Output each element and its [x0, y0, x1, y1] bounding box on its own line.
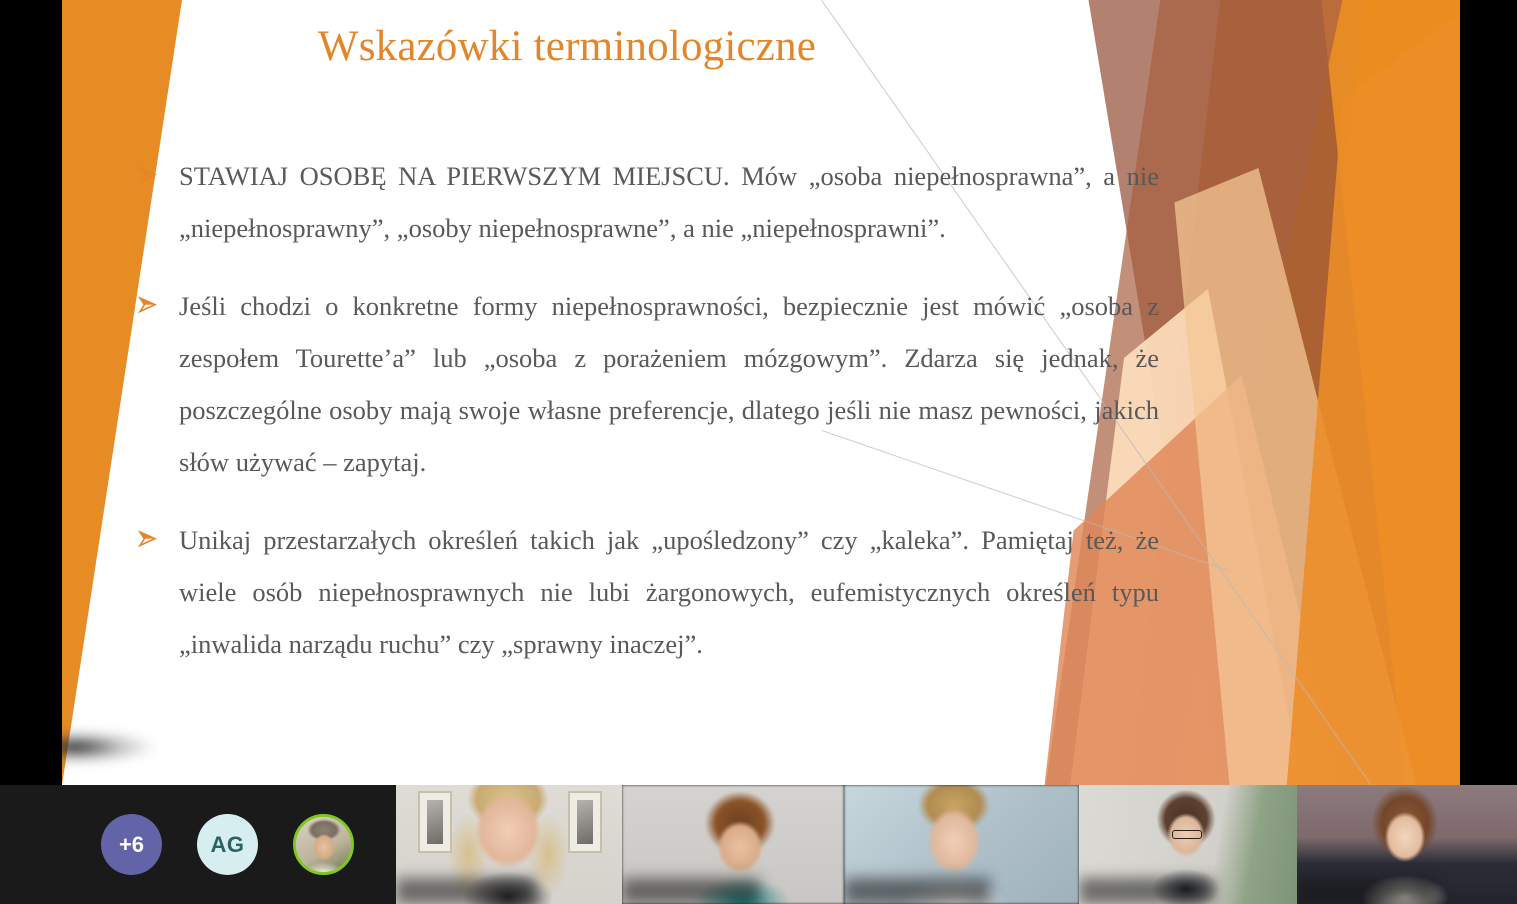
slide-bullet-3: Unikaj przestarzałych określeń takich ja…	[137, 514, 1159, 670]
avatar-photo-image	[296, 817, 351, 872]
video-tile-5[interactable]	[1297, 785, 1517, 904]
video-tile-1[interactable]	[396, 785, 622, 904]
avatar-photo-active-speaker[interactable]	[293, 814, 354, 875]
bullet-arrow-icon	[137, 528, 159, 550]
presentation-slide[interactable]: Wskazówki terminologiczne STAWIAJ OSOBĘ …	[62, 0, 1460, 785]
avatar-initials-ag[interactable]: AG	[197, 814, 258, 875]
video-tile-1-name-label	[396, 878, 536, 904]
wall-picture-frame	[418, 791, 452, 853]
avatar-initials-label: AG	[211, 832, 245, 858]
wall-picture-frame	[568, 791, 602, 853]
video-tile-3-name-label	[844, 878, 990, 904]
slide-nav-previous-button[interactable]	[62, 730, 154, 764]
shared-content-stage: Wskazówki terminologiczne STAWIAJ OSOBĘ …	[0, 0, 1517, 785]
video-tile-3[interactable]	[844, 785, 1079, 904]
video-tile-group	[396, 785, 1517, 904]
avatar-overflow-label: +6	[119, 832, 144, 858]
slide-title: Wskazówki terminologiczne	[62, 22, 1072, 71]
slide-bullet-1: STAWIAJ OSOBĘ NA PIERWSZYM MIEJSCU. Mów …	[137, 150, 1159, 254]
video-tile-2[interactable]	[622, 785, 844, 904]
avatar-group: +6 AG	[0, 785, 396, 904]
participant-filmstrip: +6 AG	[0, 785, 1517, 904]
bullet-arrow-icon	[137, 294, 159, 316]
video-tile-4[interactable]	[1079, 785, 1297, 904]
video-tile-4-name-label	[1079, 878, 1214, 904]
video-tile-5-name-label	[1297, 878, 1433, 904]
slide-body: STAWIAJ OSOBĘ NA PIERWSZYM MIEJSCU. Mów …	[137, 150, 1159, 670]
slide-bullet-text: Jeśli chodzi o konkretne formy niepełnos…	[179, 291, 1159, 477]
slide-bullet-text: STAWIAJ OSOBĘ NA PIERWSZYM MIEJSCU. Mów …	[179, 161, 1159, 243]
slide-bullet-text: Unikaj przestarzałych określeń takich ja…	[179, 525, 1159, 659]
eyeglasses-detail	[1172, 830, 1202, 839]
slide-bullet-2: Jeśli chodzi o konkretne formy niepełnos…	[137, 280, 1159, 488]
avatar-overflow-count[interactable]: +6	[101, 814, 162, 875]
bullet-arrow-icon	[137, 164, 159, 186]
video-tile-2-name-label	[622, 878, 760, 904]
